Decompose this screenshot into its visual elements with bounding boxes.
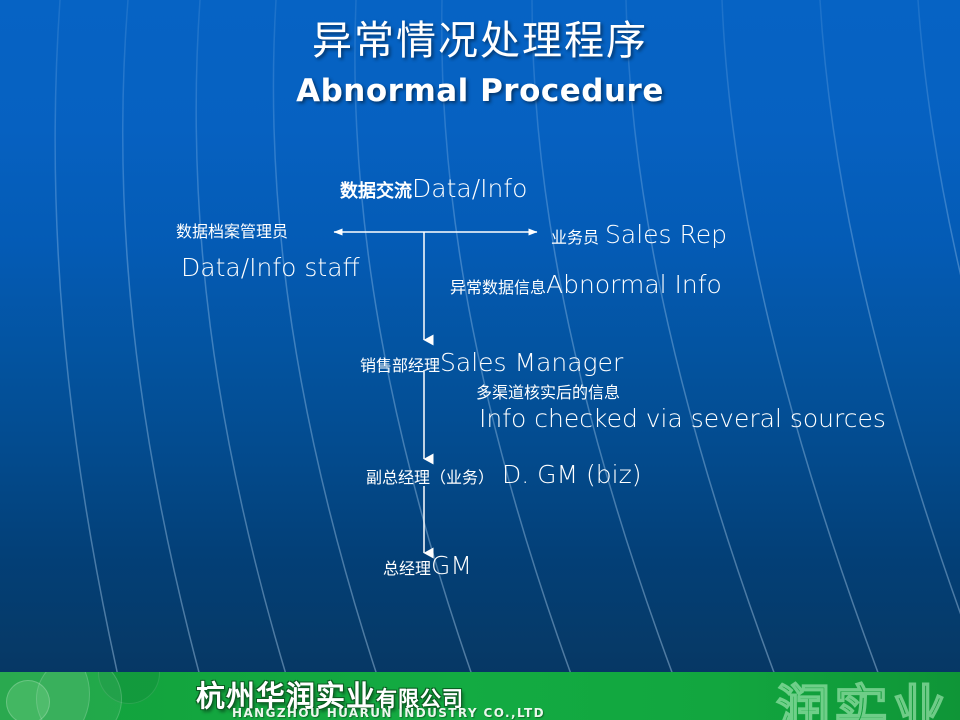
node-gm: 总经理 GM — [383, 553, 472, 578]
globe-decoration-icon — [6, 680, 50, 720]
edge-label-abnormal-info-en: Abnormal Info — [546, 272, 722, 297]
node-sales-manager-en: Sales Manager — [440, 350, 623, 375]
node-sales-manager: 销售部经理 Sales Manager — [360, 350, 623, 375]
node-gm-cn: 总经理 — [383, 561, 431, 577]
edge-label-abnormal-info-cn: 异常数据信息 — [450, 280, 546, 296]
node-sales-rep: 业务员 Sales Rep — [551, 222, 727, 247]
slide-title-chinese: 异常情况处理程序 — [0, 8, 960, 66]
edge-label-info-checked-en: Info checked via several sources — [479, 406, 886, 431]
node-sales-rep-en: Sales Rep — [605, 222, 727, 247]
company-name-english: HANGZHOU HUARUN INDUSTRY CO.,LTD — [232, 706, 545, 720]
node-deputy-gm-biz: 副总经理（业务） D. GM (biz) — [366, 462, 642, 487]
node-deputy-gm-biz-en: D. GM (biz) — [502, 462, 641, 487]
edge-label-data-info-exchange-en: Data/Info — [412, 176, 527, 201]
edge-label-info-checked-cn: 多渠道核实后的信息 — [476, 385, 620, 401]
slide-canvas: 异常情况处理程序 Abnormal Procedure sales rep --… — [0, 0, 960, 720]
footer-banner: 润实业 杭州华润实业有限公司 HANGZHOU HUARUN INDUSTRY … — [0, 672, 960, 720]
node-data-info-staff-en: Data/Info staff — [181, 255, 360, 280]
node-sales-rep-cn: 业务员 — [551, 230, 599, 246]
node-gm-en: GM — [431, 553, 472, 578]
node-sales-manager-cn: 销售部经理 — [360, 358, 440, 374]
edge-label-abnormal-info: 异常数据信息 Abnormal Info — [450, 272, 722, 297]
node-data-info-staff-cn: 数据档案管理员 — [176, 224, 288, 240]
slide-title-english: Abnormal Procedure — [0, 73, 960, 109]
edge-label-data-info-exchange: 数据交流 Data/Info — [340, 176, 527, 201]
node-deputy-gm-biz-cn: 副总经理（业务） — [366, 470, 494, 486]
brand-watermark: 润实业 — [776, 672, 950, 720]
edge-label-data-info-exchange-cn: 数据交流 — [340, 183, 412, 201]
